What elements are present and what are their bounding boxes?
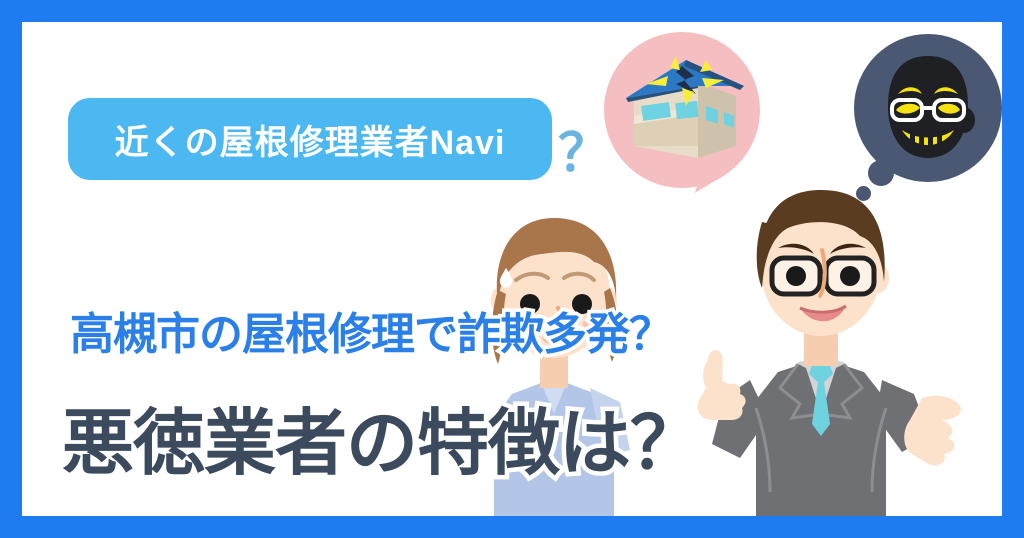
businessman-pointing-icon: [676, 162, 966, 516]
thought-bubble-villain: [854, 34, 1002, 182]
site-badge[interactable]: 近くの屋根修理業者Navi: [68, 98, 552, 180]
page-title: 悪徳業者の特徴は？: [62, 384, 701, 489]
thumbnail-canvas: 近くの屋根修理業者Navi ？: [0, 0, 1024, 538]
site-badge-label: 近くの屋根修理業者Navi: [115, 115, 506, 164]
damaged-house-icon: [620, 54, 748, 164]
content-stage: 近くの屋根修理業者Navi ？: [22, 22, 1002, 516]
floating-question-mark: ？: [558, 128, 610, 180]
villain-face-icon: [876, 54, 980, 164]
subheading-text: 高槻市の屋根修理で詐欺多発？: [70, 298, 672, 362]
